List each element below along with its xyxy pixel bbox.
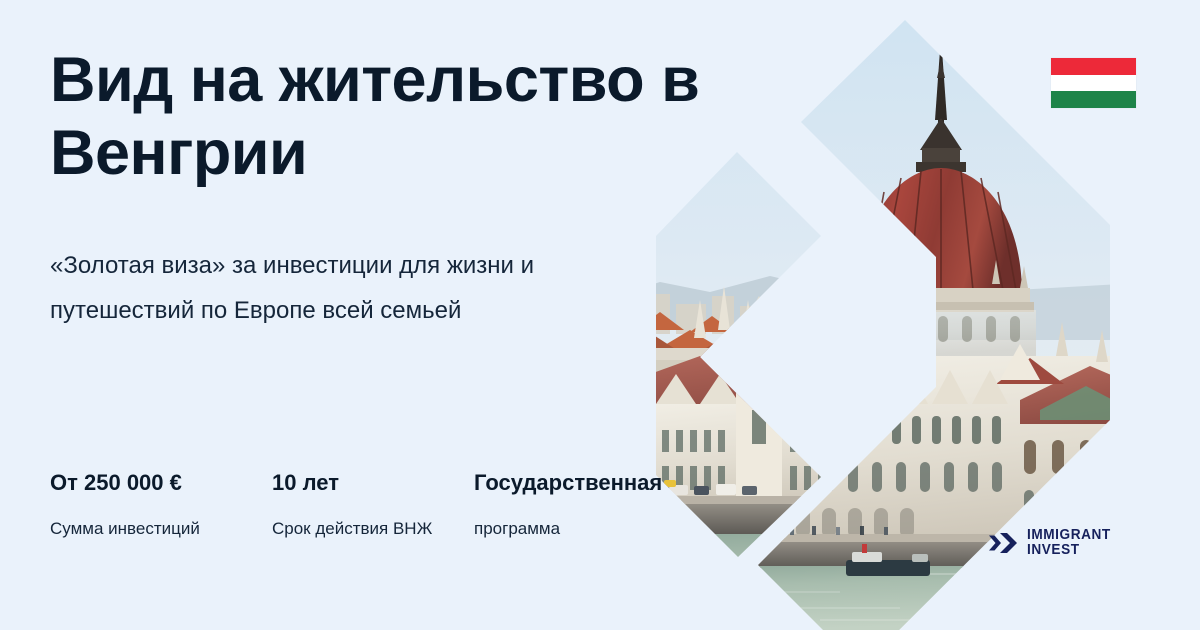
logo-line-1: IMMIGRANT — [1027, 528, 1111, 543]
stat-value: 10 лет — [272, 470, 452, 496]
stat-program-type: Государственная программа — [474, 470, 724, 544]
hungary-flag-icon — [1051, 58, 1136, 108]
stat-label: программа — [474, 514, 724, 544]
stat-value: От 250 000 € — [50, 470, 250, 496]
stat-residence-validity: 10 лет Срок действия ВНЖ — [272, 470, 452, 544]
flag-band-white — [1051, 75, 1136, 92]
stat-label: Срок действия ВНЖ — [272, 514, 452, 544]
flag-band-red — [1051, 58, 1136, 75]
flag-band-green — [1051, 91, 1136, 108]
immigrant-invest-logo[interactable]: IMMIGRANT INVEST — [988, 528, 1116, 558]
promo-banner: Вид на жительство в Венгрии «Золотая виз… — [0, 0, 1200, 630]
subtitle: «Золотая виза» за инвестиции для жизни и… — [50, 243, 610, 333]
stat-investment-amount: От 250 000 € Сумма инвестиций — [50, 470, 250, 544]
stat-value: Государственная — [474, 470, 724, 496]
logo-line-2: INVEST — [1027, 543, 1111, 558]
page-title: Вид на жительство в Венгрии — [50, 44, 710, 190]
stat-label: Сумма инвестиций — [50, 514, 250, 544]
double-chevron-right-icon — [988, 528, 1018, 558]
logo-wordmark: IMMIGRANT INVEST — [1027, 528, 1116, 558]
stats-row: От 250 000 € Сумма инвестиций 10 лет Сро… — [50, 470, 730, 590]
